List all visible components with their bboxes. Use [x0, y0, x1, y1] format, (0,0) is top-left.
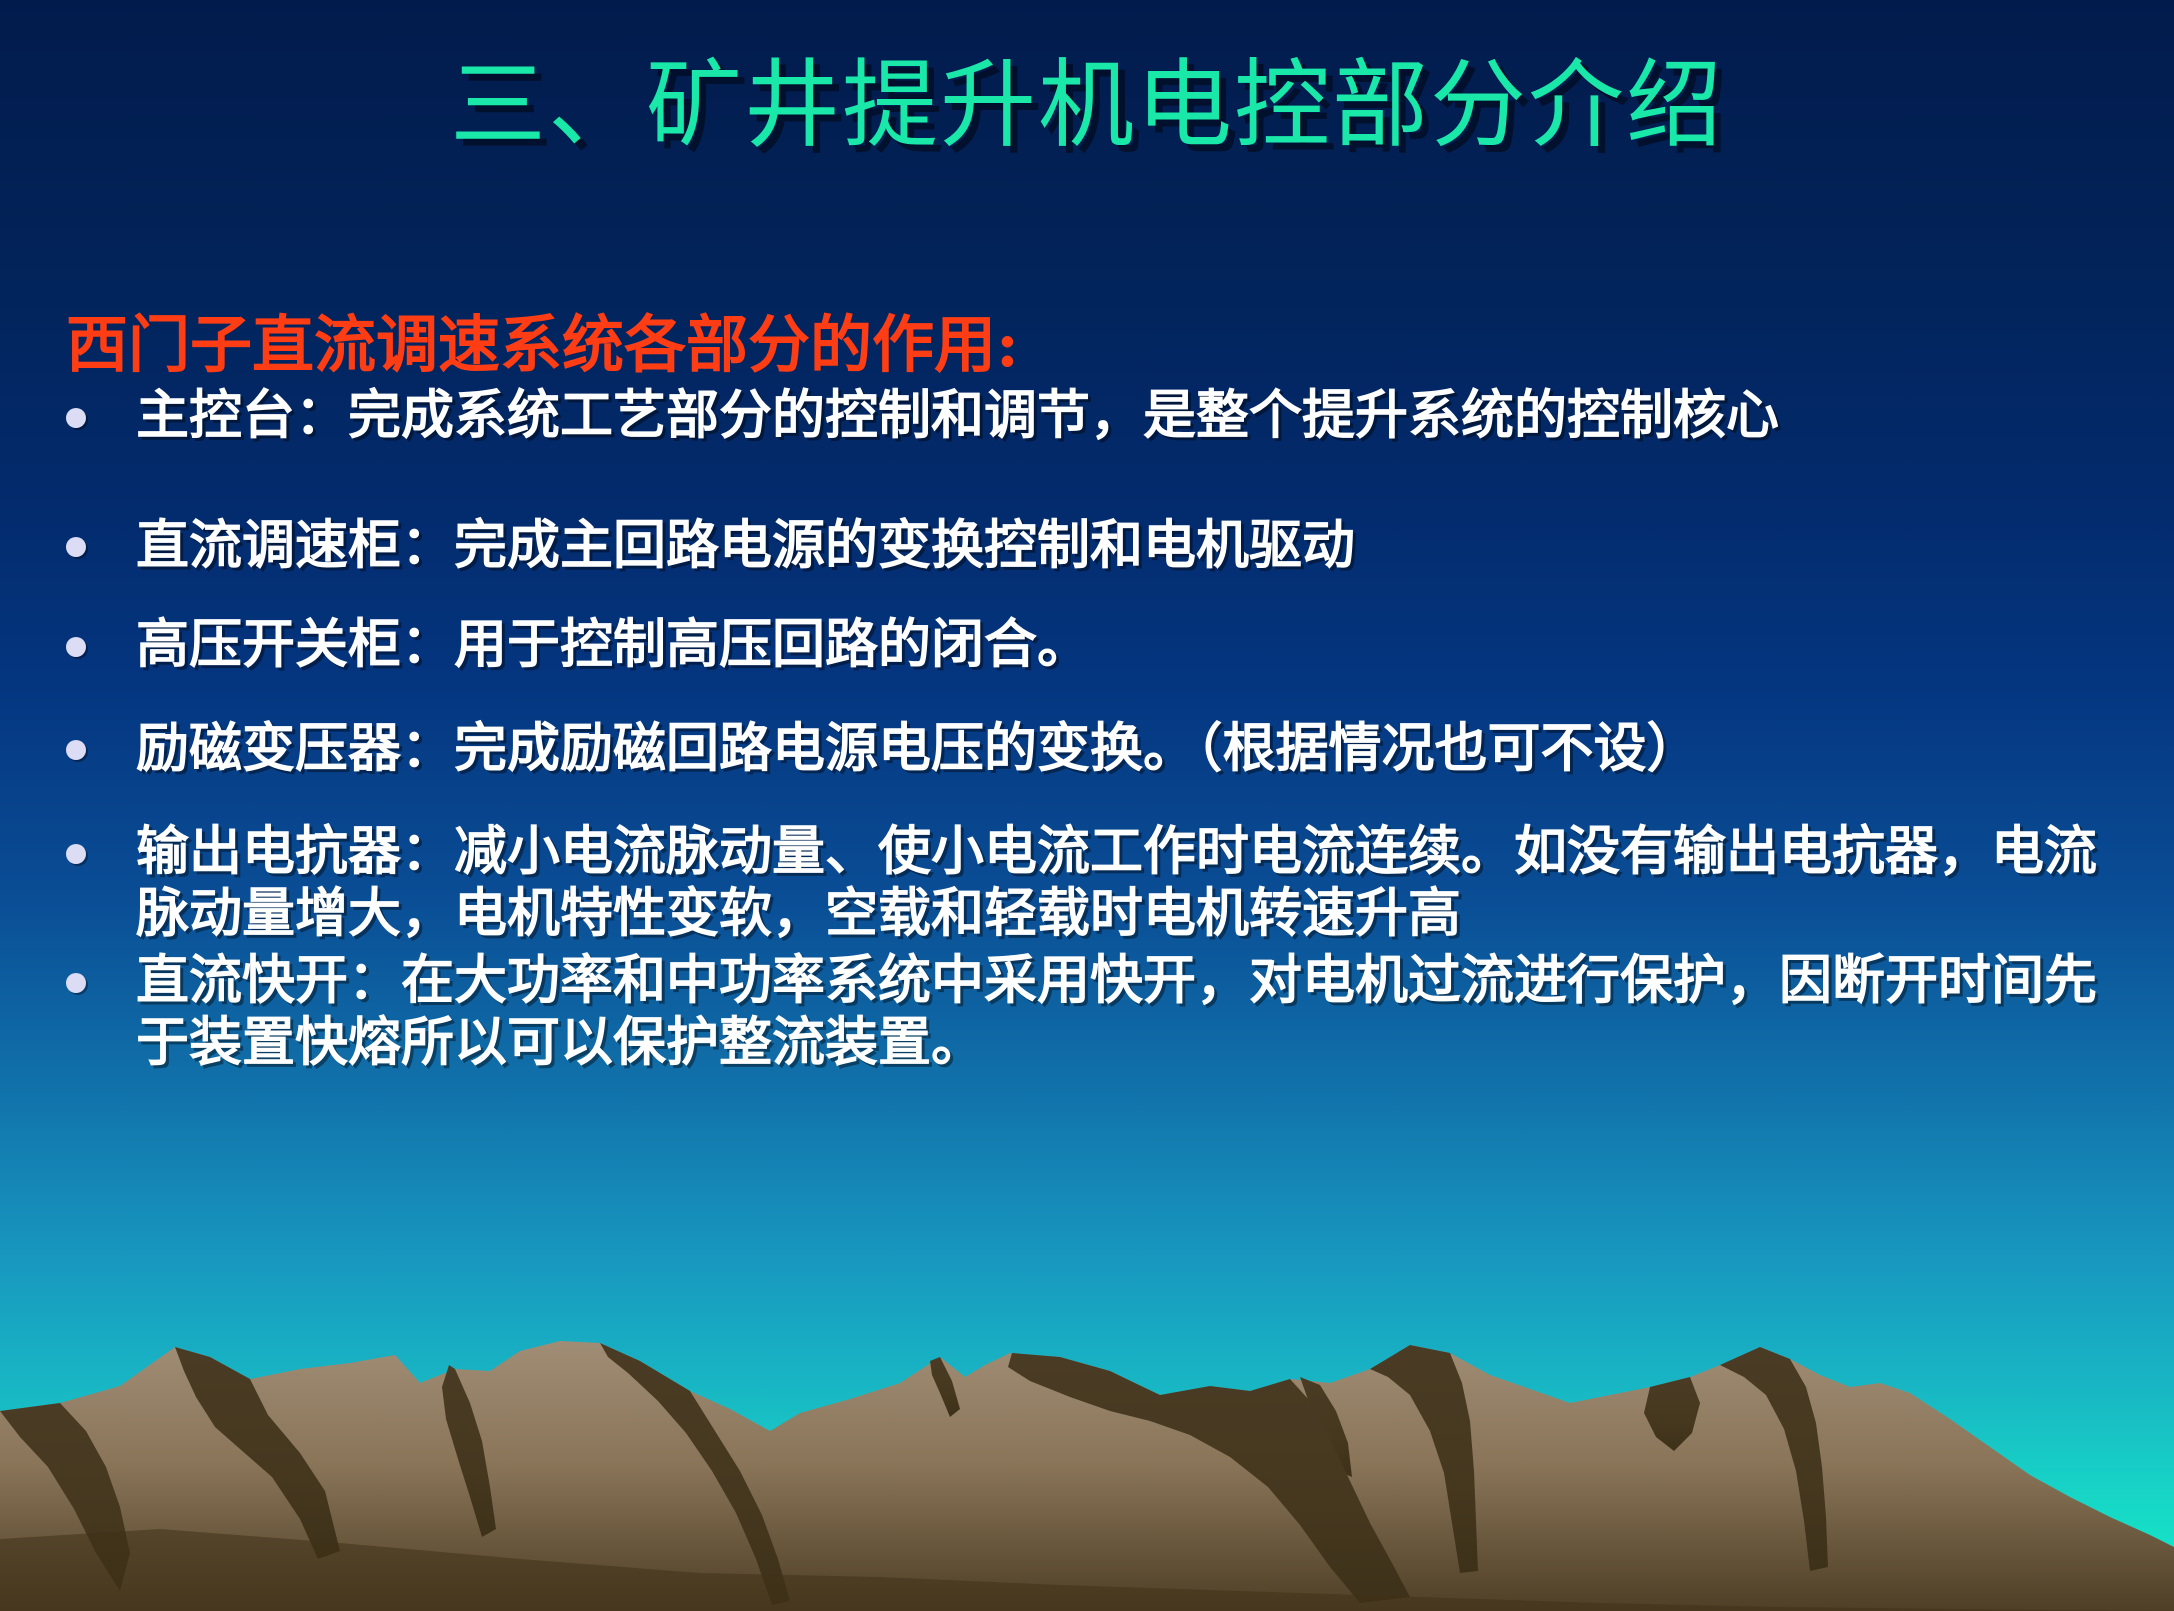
bullet-dot-icon — [66, 408, 86, 428]
bullet-list: 主控台：完成系统工艺部分的控制和调节，是整个提升系统的控制核心 直流调速柜：完成… — [58, 385, 2128, 1073]
bullet-item-excitation-transformer: 励磁变压器：完成励磁回路电源电压的变换。（根据情况也可不设） — [58, 718, 2128, 779]
bullet-item-output-reactor: 输出电抗器：减小电流脉动量、使小电流工作时电流连续。如没有输出电抗器，电流脉动量… — [58, 821, 2128, 944]
bullet-text: 主控台：完成系统工艺部分的控制和调节，是整个提升系统的控制核心 — [136, 385, 2128, 446]
bullet-item-dc-drive-cabinet: 直流调速柜：完成主回路电源的变换控制和电机驱动 — [58, 515, 2128, 576]
bullet-item-dc-fast-breaker: 直流快开：在大功率和中功率系统中采用快开，对电机过流进行保护，因断开时间先于装置… — [58, 950, 2128, 1073]
bullet-dot-icon — [66, 537, 86, 557]
bullet-text: 励磁变压器：完成励磁回路电源电压的变换。（根据情况也可不设） — [136, 718, 2128, 779]
presentation-slide: 三、矿井提升机电控部分介绍 西门子直流调速系统各部分的作用: 主控台：完成系统工… — [0, 0, 2174, 1611]
bullet-dot-icon — [66, 637, 86, 657]
bullet-text: 高压开关柜：用于控制高压回路的闭合。 — [136, 614, 2128, 675]
slide-body: 西门子直流调速系统各部分的作用: 主控台：完成系统工艺部分的控制和调节，是整个提… — [58, 310, 2128, 1073]
bullet-item-hv-switchgear: 高压开关柜：用于控制高压回路的闭合。 — [58, 614, 2128, 675]
bullet-text: 直流调速柜：完成主回路电源的变换控制和电机驱动 — [136, 515, 2128, 576]
bullet-item-main-console: 主控台：完成系统工艺部分的控制和调节，是整个提升系统的控制核心 — [58, 385, 2128, 446]
bullet-text: 输出电抗器：减小电流脉动量、使小电流工作时电流连续。如没有输出电抗器，电流脉动量… — [136, 821, 2128, 944]
mountain-range-graphic — [0, 1291, 2174, 1611]
bullet-dot-icon — [66, 844, 86, 864]
bullet-dot-icon — [66, 973, 86, 993]
bullet-text: 直流快开：在大功率和中功率系统中采用快开，对电机过流进行保护，因断开时间先于装置… — [136, 950, 2128, 1073]
slide-subtitle: 西门子直流调速系统各部分的作用: — [66, 310, 2128, 379]
bullet-dot-icon — [66, 740, 86, 760]
slide-title: 三、矿井提升机电控部分介绍 — [0, 52, 2174, 160]
